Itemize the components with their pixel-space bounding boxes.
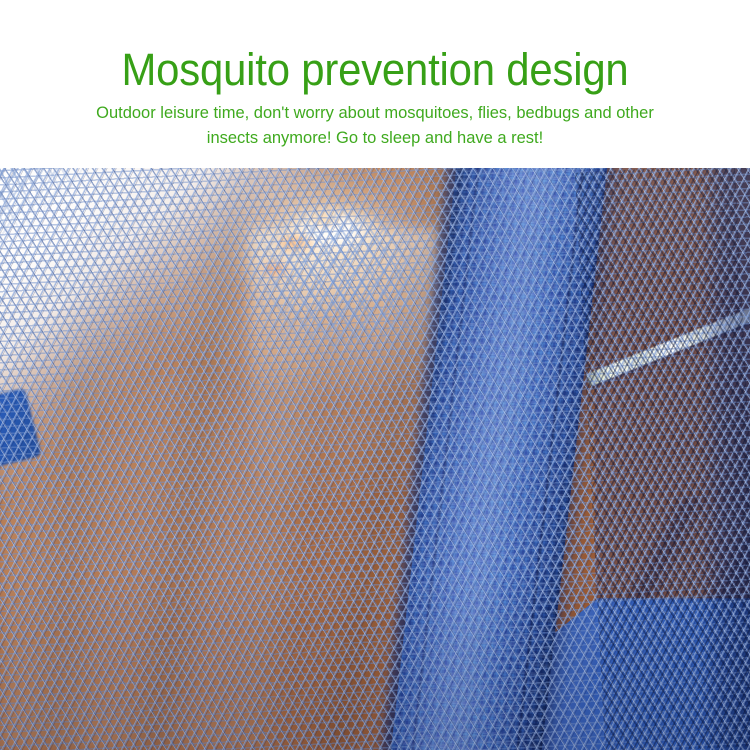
product-banner: Mosquito prevention design Outdoor leisu… (0, 0, 750, 750)
header-band: Mosquito prevention design Outdoor leisu… (0, 0, 750, 168)
subtitle-line-1: Outdoor leisure time, don't worry about … (60, 100, 691, 125)
right-edge-vignette (700, 168, 750, 750)
product-photo (0, 168, 750, 750)
page-title: Mosquito prevention design (26, 45, 724, 95)
subtitle-block: Outdoor leisure time, don't worry about … (60, 100, 691, 150)
white-corner-core (0, 168, 210, 358)
glare-warm-flecks (255, 203, 425, 353)
subtitle-line-2: insects anymore! Go to sleep and have a … (60, 125, 691, 150)
